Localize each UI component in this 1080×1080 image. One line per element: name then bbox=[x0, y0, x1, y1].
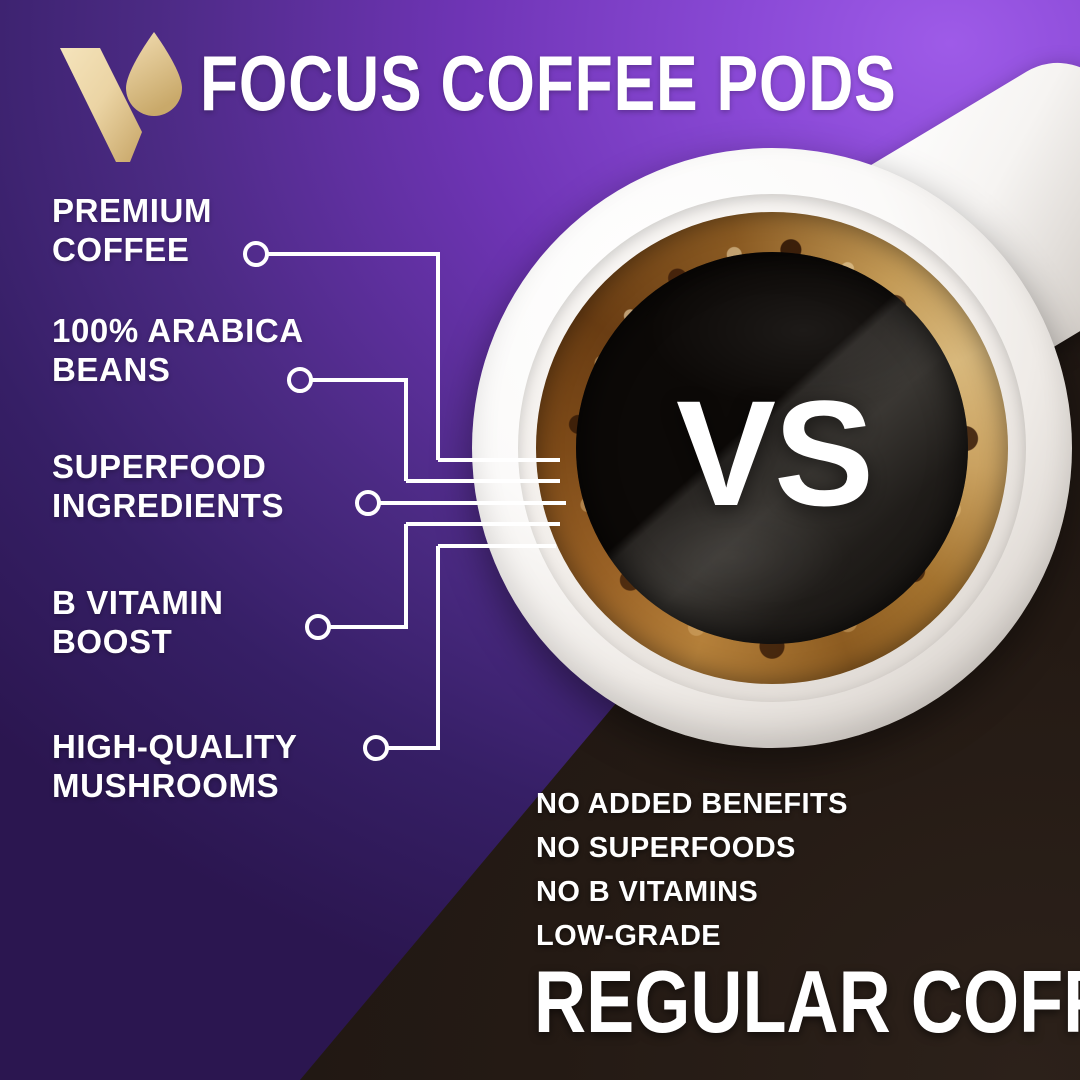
connector-dot-mushrooms bbox=[365, 737, 387, 759]
connector-dot-premium-coffee bbox=[245, 243, 267, 265]
page-title: FOCUS COFFEE PODS bbox=[200, 44, 897, 122]
feature-label-mushrooms: HIGH-QUALITY MUSHROOMS bbox=[52, 728, 298, 806]
connector-dot-b-vitamin bbox=[307, 616, 329, 638]
feature-label-arabica-beans: 100% ARABICA BEANS bbox=[52, 312, 304, 390]
regular-coffee-heading: REGULAR COFFEE bbox=[534, 958, 1080, 1046]
feature-label-b-vitamin-boost: B VITAMIN BOOST bbox=[52, 584, 224, 662]
v-droplet-logo-icon[interactable] bbox=[56, 30, 188, 170]
feature-label-superfood: SUPERFOOD INGREDIENTS bbox=[52, 448, 284, 526]
connector-path-arabica bbox=[312, 380, 406, 481]
poster-canvas: FOCUS COFFEE PODS PREMIUM COFFEE 100% AR… bbox=[0, 0, 1080, 1080]
vs-label: VS bbox=[676, 378, 872, 528]
connector-path-b-vitamin bbox=[330, 524, 406, 627]
con-item: NO SUPERFOODS bbox=[536, 826, 1056, 870]
header: FOCUS COFFEE PODS bbox=[0, 0, 1080, 160]
feature-label-premium-coffee: PREMIUM COFFEE bbox=[52, 192, 212, 270]
regular-coffee-cons-list: NO ADDED BENEFITS NO SUPERFOODS NO B VIT… bbox=[536, 782, 1056, 958]
con-item: NO ADDED BENEFITS bbox=[536, 782, 1056, 826]
connector-path-mushrooms bbox=[388, 546, 438, 748]
con-item: NO B VITAMINS bbox=[536, 870, 1056, 914]
connector-dot-superfood bbox=[357, 492, 379, 514]
